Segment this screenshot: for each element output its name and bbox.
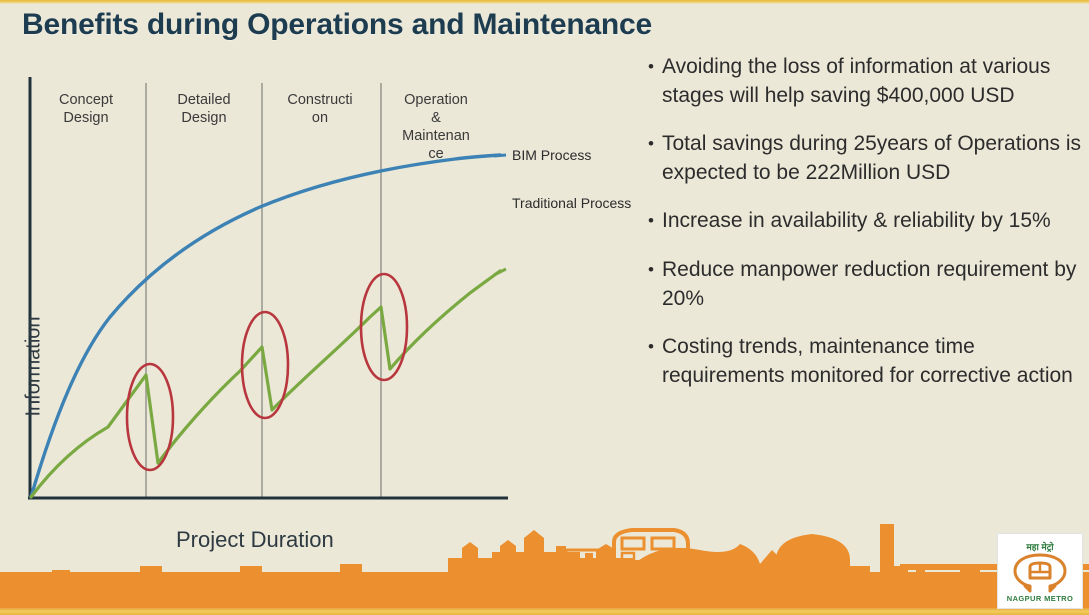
phase-label-construction: Constructi on: [272, 91, 368, 127]
benefits-bullet-list: • Avoiding the loss of information at va…: [640, 52, 1086, 409]
bullet-marker-icon: •: [640, 332, 662, 362]
bottom-gold-rule: [0, 608, 1089, 615]
bullet-marker-icon: •: [640, 206, 662, 236]
list-item: • Costing trends, maintenance time requi…: [640, 332, 1086, 390]
list-item: • Avoiding the loss of information at va…: [640, 52, 1086, 110]
bullet-text: Increase in availability & reliability b…: [662, 206, 1086, 235]
top-gold-rule: [0, 0, 1089, 4]
metro-loop-icon: [1012, 552, 1068, 594]
phase-label-operation-maintenance: Operation & Maintenan ce: [388, 91, 484, 164]
nagpur-skyline-silhouette: [0, 520, 1089, 615]
bullet-text: Costing trends, maintenance time require…: [662, 332, 1086, 390]
series-label-bim-process: BIM Process: [512, 147, 591, 163]
series-label-traditional-process: Traditional Process: [512, 195, 631, 211]
series-line-traditional-process: [31, 271, 500, 497]
list-item: • Total savings during 25years of Operat…: [640, 129, 1086, 187]
list-item: • Increase in availability & reliability…: [640, 206, 1086, 236]
bullet-text: Total savings during 25years of Operatio…: [662, 129, 1086, 187]
page-title: Benefits during Operations and Maintenan…: [22, 8, 652, 42]
bullet-text: Reduce manpower reduction requirement by…: [662, 255, 1086, 313]
logo-name-text: NAGPUR METRO: [1007, 594, 1073, 603]
series-label-ticks: [494, 155, 506, 275]
slide-canvas: Benefits during Operations and Maintenan…: [0, 0, 1089, 615]
list-item: • Reduce manpower reduction requirement …: [640, 255, 1086, 313]
phase-label-detailed-design: Detailed Design: [156, 91, 252, 127]
logo-hindi-text: महा मेट्रो: [1026, 542, 1053, 552]
bullet-marker-icon: •: [640, 129, 662, 159]
phase-label-concept-design: Concept Design: [38, 91, 134, 127]
nagpur-metro-logo: महा मेट्रो NAGPUR METRO: [997, 533, 1083, 609]
bullet-text: Avoiding the loss of information at vari…: [662, 52, 1086, 110]
loss-ellipse-design-handover: [127, 364, 173, 470]
bullet-marker-icon: •: [640, 52, 662, 82]
bullet-marker-icon: •: [640, 255, 662, 285]
benefits-chart: Information Concept Design Detailed Desi…: [0, 55, 640, 525]
y-axis-label: Information: [23, 287, 46, 447]
